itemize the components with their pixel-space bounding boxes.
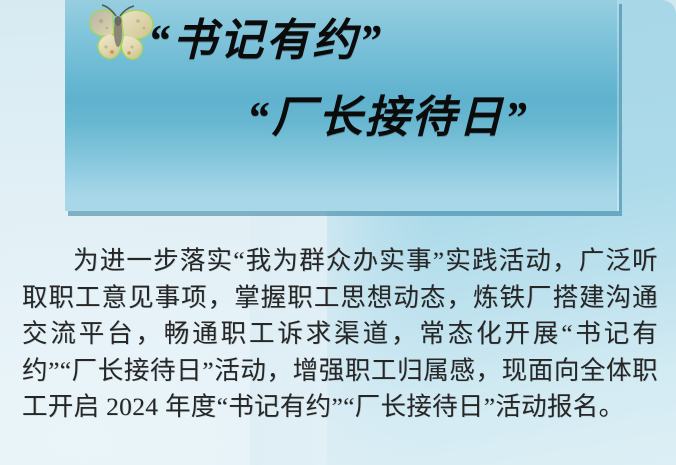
banner-title-line-1: “书记有约” <box>148 15 384 67</box>
banner-seam <box>617 0 619 211</box>
slide-canvas: “书记有约” “厂长接待日” 为进一步落实“我为群众办实事”实践活动，广泛听取职… <box>0 0 676 465</box>
body-paragraph: 为进一步落实“我为群众办实事”实践活动，广泛听取职工意见事项，掌握职工思想动态，… <box>22 243 658 426</box>
banner-title-line-2: “厂长接待日” <box>247 92 529 144</box>
